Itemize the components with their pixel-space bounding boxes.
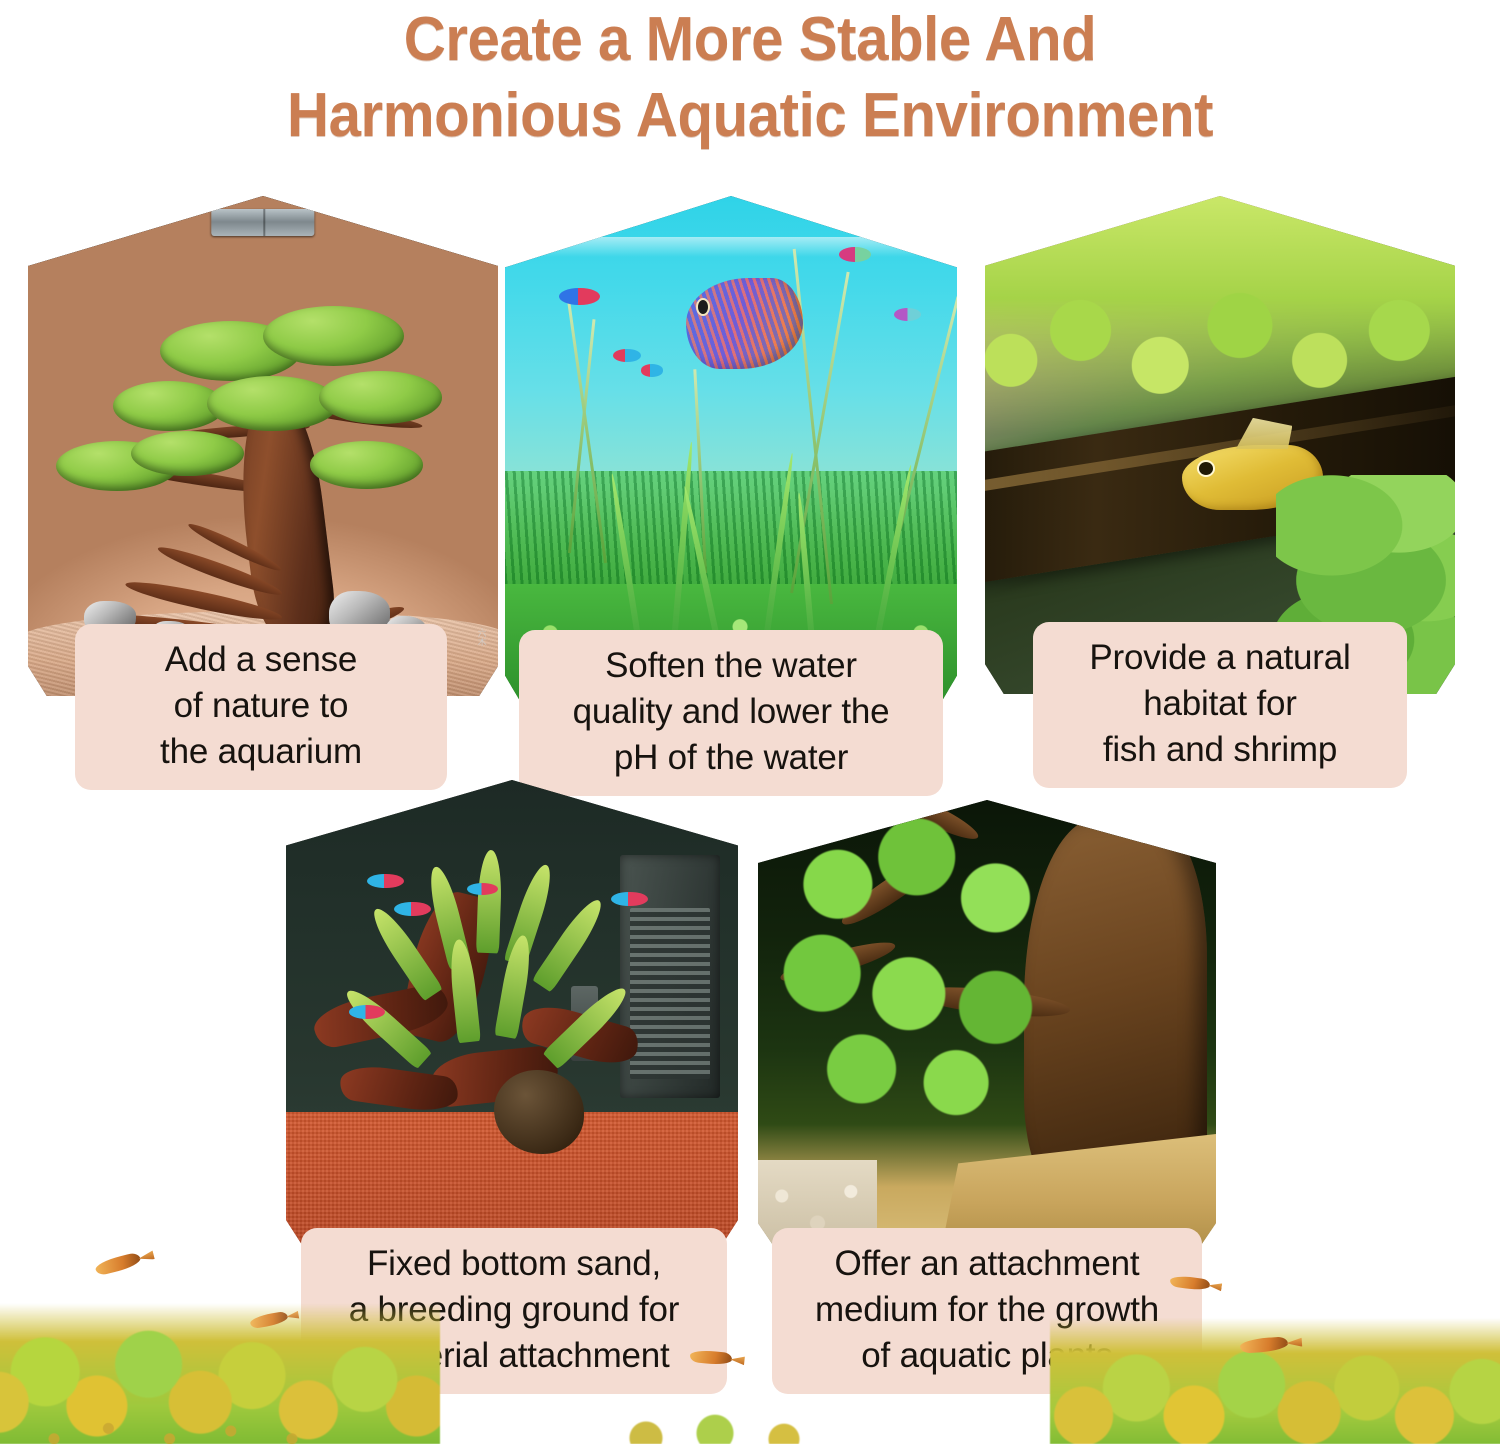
caption-add-sense-of-nature: Add a sense of nature to the aquarium (75, 624, 447, 790)
water-surface (505, 237, 957, 257)
caption-soften-water-quality: Soften the water quality and lower the p… (519, 630, 943, 796)
feature-row-bottom: Fixed bottom sand, a breeding ground for… (0, 780, 1500, 1280)
caption-line: bacterial attachment (315, 1333, 713, 1379)
photo-watermark: 六木 (476, 628, 489, 646)
card-attachment-medium: Offer an attachment medium for the growt… (758, 800, 1216, 1250)
bonsai-driftwood-aquascape-photo: 六木 (28, 196, 498, 696)
caption-line: pH of the water (533, 735, 929, 781)
caption-provide-natural-habitat: Provide a natural habitat for fish and s… (1033, 622, 1407, 788)
caption-line: Provide a natural (1047, 635, 1393, 681)
dwarf-gourami-fish (686, 278, 804, 370)
caption-line: medium for the growth (786, 1287, 1188, 1333)
moss-covered-driftwood-photo (758, 800, 1216, 1250)
christmas-moss (767, 809, 1161, 1151)
neon-tetra (839, 247, 871, 262)
caption-line: of nature to (89, 683, 433, 729)
caption-line: the aquarium (89, 729, 433, 775)
page-title-line-2: Harmonious Aquatic Environment (45, 78, 1455, 154)
neon-tetra (559, 288, 600, 305)
caption-line: quality and lower the (533, 689, 929, 735)
tank-light-fixture (211, 209, 314, 237)
caption-line: habitat for (1047, 681, 1393, 727)
small-fish (1240, 1336, 1289, 1353)
page-title: Create a More Stable And Harmonious Aqua… (45, 2, 1455, 154)
caption-attachment-medium: Offer an attachment medium for the growt… (772, 1228, 1202, 1394)
page-title-line-1: Create a More Stable And (45, 2, 1455, 78)
caption-line: Add a sense (89, 637, 433, 683)
cardinal-tetra (367, 874, 403, 888)
card-bonsai: 六木 Add a sense of nature to the aquarium (28, 196, 498, 696)
feature-row-top: 六木 Add a sense of nature to the aquarium (0, 196, 1500, 776)
caption-fixed-bottom-sand: Fixed bottom sand, a breeding ground for… (301, 1228, 727, 1394)
neon-tetra (613, 349, 640, 362)
cardinal-tetra (349, 1005, 385, 1019)
caption-line: Fixed bottom sand, (315, 1241, 713, 1287)
caption-line: a breeding ground for (315, 1287, 713, 1333)
card-soften-water: Soften the water quality and lower the p… (505, 196, 957, 706)
neon-tetra (894, 308, 921, 321)
red-sand-driftwood-tank-photo (286, 780, 738, 1248)
small-fish (249, 1311, 289, 1329)
moss-driftwood-yellow-pleco-photo (985, 196, 1455, 694)
caption-line: Soften the water (533, 643, 929, 689)
neon-tetra (641, 364, 664, 376)
caption-line: Offer an attachment (786, 1241, 1188, 1287)
caption-line: fish and shrimp (1047, 727, 1393, 773)
card-bottom-sand: Fixed bottom sand, a breeding ground for… (286, 780, 738, 1248)
cardinal-tetra (394, 902, 430, 916)
card-habitat: Provide a natural habitat for fish and s… (985, 196, 1455, 694)
caption-line: of aquatic plants (786, 1333, 1188, 1379)
